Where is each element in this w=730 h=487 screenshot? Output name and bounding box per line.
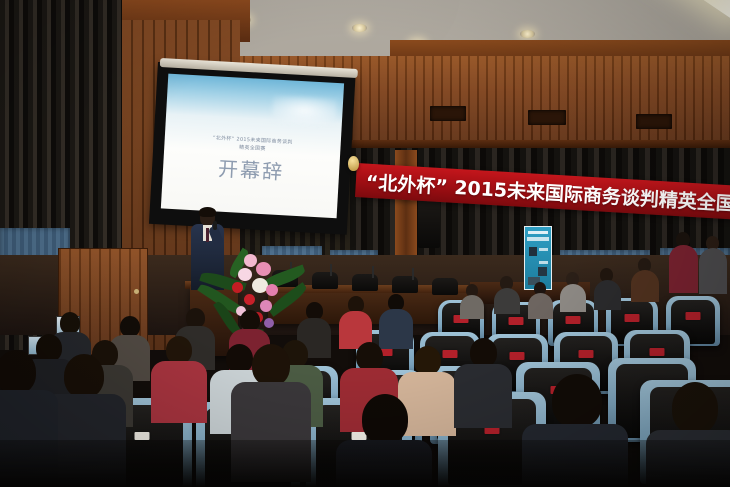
slide-cloud-graphic [272,95,337,125]
head-table-chair [312,272,338,289]
downlight-icon [352,24,367,32]
projected-slide: “北外杯” 2015未来国际商务谈判 精英全国赛 开幕辞 [161,74,344,219]
speaker-hair [199,207,216,217]
table-microphone [330,264,332,276]
foreground-shadow [0,440,730,487]
poster-stand [524,226,552,290]
conference-photo: “北外杯” 2015未来国际商务谈判 精英全国赛 开幕辞 “北外杯” 2015未… [0,0,730,487]
downlight-icon [520,30,535,38]
banner-tassel-icon [348,156,359,171]
door-handle-icon[interactable] [134,289,139,294]
head-table-chair [432,278,458,295]
table-microphone [412,268,414,280]
head-table-chair [392,276,418,293]
head-table-chair [352,274,378,291]
table-microphone [372,266,374,278]
handheld-microphone [213,221,217,230]
loudspeaker [418,196,440,248]
projection-screen: “北外杯” 2015未来国际商务谈判 精英全国赛 开幕辞 [149,62,356,235]
